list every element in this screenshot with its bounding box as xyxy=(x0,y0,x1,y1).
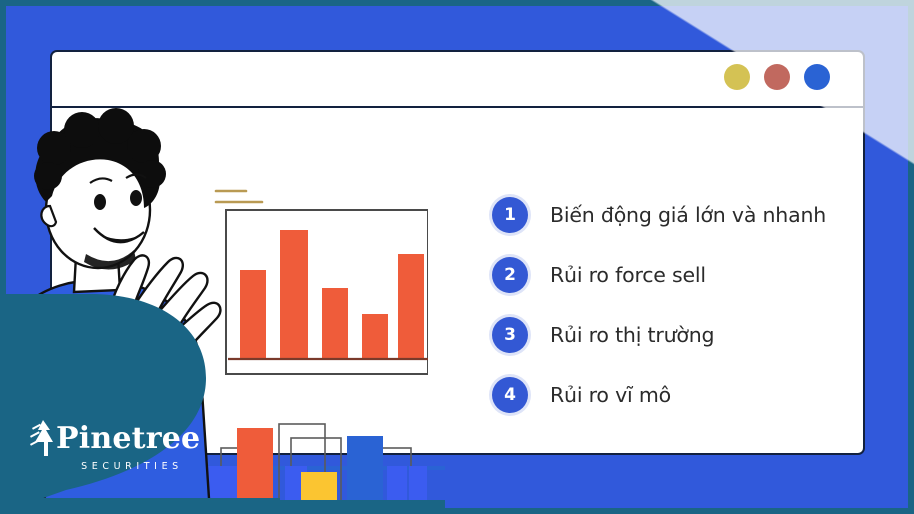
list-item[interactable]: 2 Rủi ro force sell xyxy=(492,256,862,294)
list-item[interactable]: 4 Rủi ro vĩ mô xyxy=(492,376,862,414)
list-item-label: Biến động giá lớn và nhanh xyxy=(550,203,826,227)
list-item-badge: 1 xyxy=(492,197,528,233)
chart-bar-5 xyxy=(398,254,424,358)
chart-bar-4 xyxy=(362,314,388,358)
list-item-label: Rủi ro force sell xyxy=(550,263,706,287)
list-item-badge: 2 xyxy=(492,257,528,293)
list-item-badge: 4 xyxy=(492,377,528,413)
list-item-label: Rủi ro thị trường xyxy=(550,323,714,347)
list-item[interactable]: 1 Biến động giá lớn và nhanh xyxy=(492,196,862,234)
chart-bar-3 xyxy=(322,288,348,358)
list-item-label: Rủi ro vĩ mô xyxy=(550,383,671,407)
accent-lines-icon xyxy=(216,191,262,202)
dot-red[interactable] xyxy=(764,64,790,90)
list-item-badge: 3 xyxy=(492,317,528,353)
eye-right xyxy=(130,190,142,206)
risk-list: 1 Biến động giá lớn và nhanh 2 Rủi ro fo… xyxy=(492,196,862,436)
brand-swoosh xyxy=(0,284,280,514)
slide-canvas: RỦI RO CHỨNG KHOÁN PHÁI SINH xyxy=(0,0,914,514)
chart-bar-2 xyxy=(280,230,308,358)
brand-name: Pinetree xyxy=(56,424,210,454)
brand-logo: Pinetree SECURITIES xyxy=(30,424,210,472)
window-controls xyxy=(724,64,830,90)
list-item[interactable]: 3 Rủi ro thị trường xyxy=(492,316,862,354)
pine-tree-icon xyxy=(30,418,60,456)
dot-blue[interactable] xyxy=(804,64,830,90)
dot-yellow[interactable] xyxy=(724,64,750,90)
eye-left xyxy=(94,194,106,210)
brand-subtitle: SECURITIES xyxy=(56,461,208,472)
